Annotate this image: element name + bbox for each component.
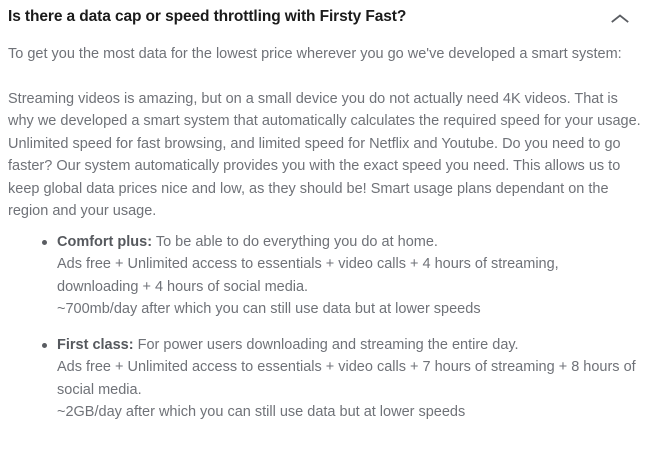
list-item: First class: For power users downloading… [8,334,643,424]
plan-name-label: First class: [57,337,134,353]
intro-paragraph: To get you the most data for the lowest … [8,43,643,66]
plan-summary-text: To be able to do everything you do at ho… [152,234,438,250]
main-paragraph: Streaming videos is amazing, but on a sm… [8,88,643,223]
plan-name-label: Comfort plus: [57,234,152,250]
plan-cap-text: ~700mb/day after which you can still use… [57,298,643,321]
chevron-up-icon [611,13,629,25]
bullet-point-icon [42,240,47,245]
faq-answer-body: To get you the most data for the lowest … [0,43,651,424]
list-item: Comfort plus: To be able to do everythin… [8,231,643,321]
plan-cap-text: ~2GB/day after which you can still use d… [57,401,643,424]
plan-summary-text: For power users downloading and streamin… [138,337,519,353]
faq-accordion-panel: Is there a data cap or speed throttling … [0,0,651,463]
plan-details-text: Ads free + Unlimited access to essential… [57,253,643,298]
accordion-toggle-button[interactable] [607,7,633,31]
plan-list: Comfort plus: To be able to do everythin… [8,231,643,424]
faq-question-title: Is there a data cap or speed throttling … [8,6,607,28]
faq-accordion-header[interactable]: Is there a data cap or speed throttling … [0,0,651,31]
plan-details-text: Ads free + Unlimited access to essential… [57,356,643,401]
bullet-point-icon [42,343,47,348]
